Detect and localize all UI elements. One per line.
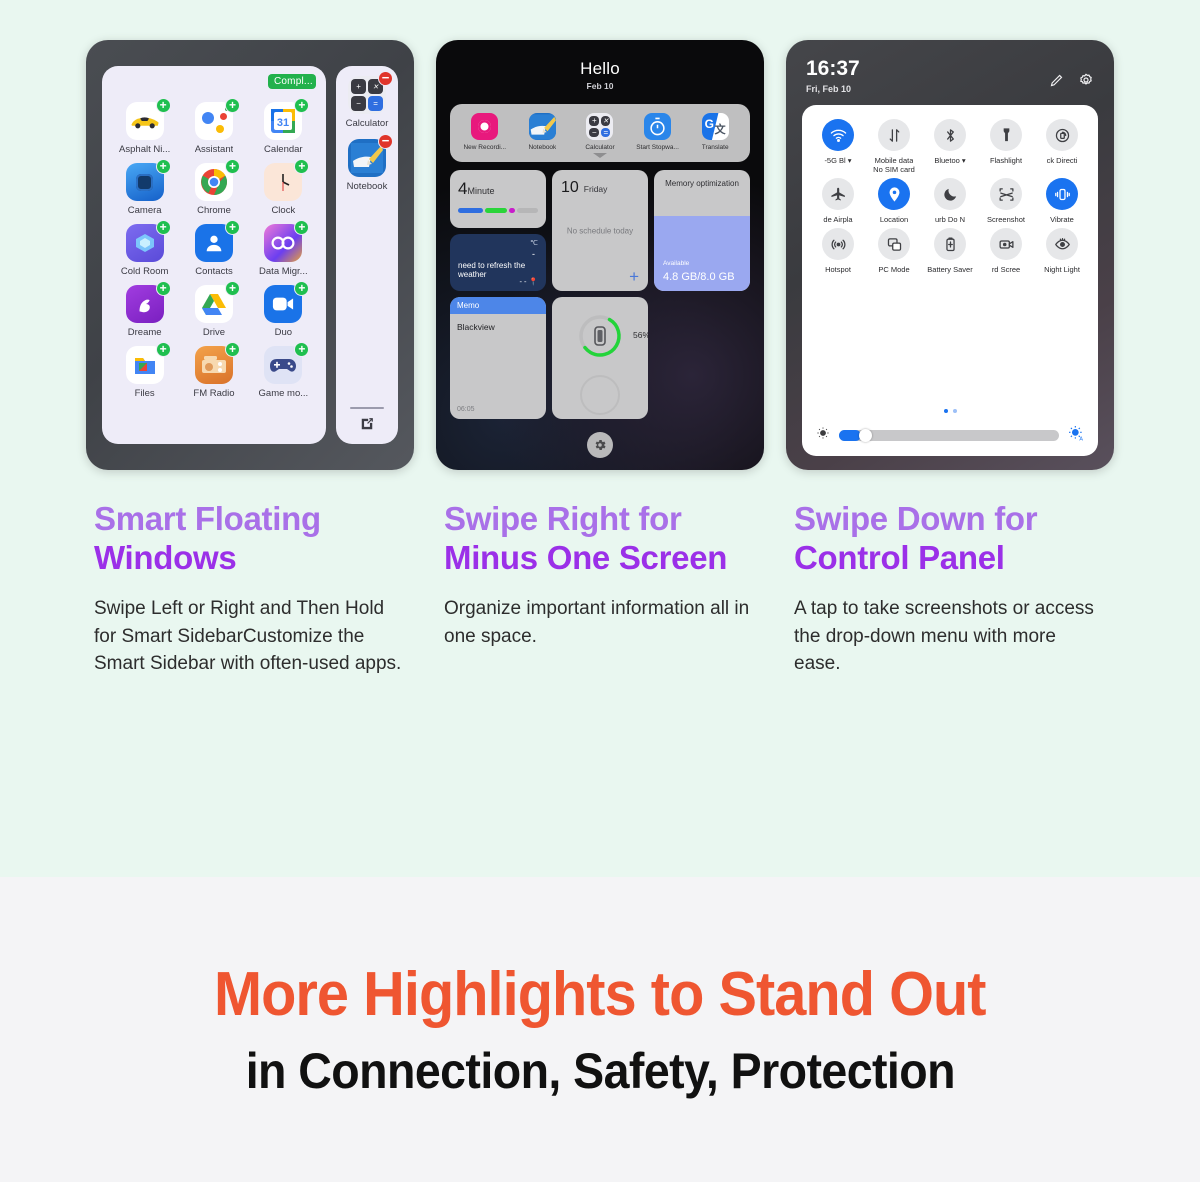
app-label: Clock [271,205,295,216]
quick-toggle[interactable]: PC Mode [866,228,922,274]
add-app-badge[interactable]: + [156,281,171,296]
app-icon-wrap: + [126,346,164,384]
greeting-date: Feb 10 [450,81,750,91]
app-label: Contacts [195,266,233,277]
quick-toggle-label: Mobile data [875,156,914,165]
quick-toggle[interactable]: Mobile dataNo SIM card [866,119,922,174]
widget-battery[interactable]: 56% [552,297,648,419]
weather-temp: - [532,249,535,259]
night-light-icon[interactable] [1046,228,1078,260]
sidebar-app-label: Calculator [346,118,389,129]
add-app-badge[interactable]: + [225,342,240,357]
app-icon-wrap: + [195,346,233,384]
app-item[interactable]: +Assistant [179,102,248,155]
flashlight-icon[interactable] [990,119,1022,151]
smart-sidebar: +✕−=−Calculator−Notebook [336,66,398,444]
calendar-add-icon[interactable]: + [629,268,639,285]
add-app-badge[interactable]: + [294,220,309,235]
caption-title-line1: Swipe Down for [794,500,1106,539]
airplane-icon[interactable] [822,178,854,210]
app-item[interactable]: +Chrome [179,163,248,216]
caption-minus-one-screen: Swipe Right for Minus One Screen Organiz… [436,500,764,678]
memo-body: Blackview [450,314,546,340]
shortcut-label: Start Stopwa... [636,144,679,151]
add-app-badge[interactable]: + [294,98,309,113]
battery-ring: 56% [577,313,623,359]
page-indicator [810,409,1090,413]
add-app-badge[interactable]: + [225,220,240,235]
weather-wind: - - [519,277,526,286]
caption-control-panel: Swipe Down for Control Panel A tap to ta… [786,500,1114,678]
hotspot-icon[interactable] [822,228,854,260]
caption-title-line1: Swipe Right for [444,500,756,539]
memory-available-value: 4.8 GB/8.0 GB [663,271,735,283]
app-item[interactable]: +Game mo... [249,346,318,399]
app-label: Camera [128,205,162,216]
quick-toggle-label: Screenshot [987,215,1025,224]
caption-body: Swipe Left or Right and Then Hold for Sm… [94,595,406,678]
brightness-low-icon [816,426,830,445]
clock-date: Fri, Feb 10 [806,84,860,94]
location-pin-icon: 📍 [529,277,538,286]
status-time-block: 16:37 Fri, Feb 10 [806,58,860,94]
app-label: Dreame [128,327,162,338]
app-icon-wrap: + [195,285,233,323]
shortcut-item[interactable]: +✕−=Calculator [573,113,627,151]
greeting-title: Hello [450,59,750,79]
app-label: FM Radio [193,388,234,399]
shortcut-label: Calculator [585,144,614,151]
battery-secondary-ring [580,375,620,415]
memo-time: 06:05 [457,406,475,413]
quick-toggle[interactable]: ck Directi [1034,119,1090,174]
app-label: Cold Room [121,266,169,277]
shortcut-label: Translate [702,144,729,151]
weather-location-row: - - 📍 [519,277,538,286]
quick-toggle[interactable]: Flashlight [978,119,1034,174]
timer-unit: Minute [467,186,494,196]
caption-smart-floating-windows: Smart Floating Windows Swipe Left or Rig… [86,500,414,678]
gear-icon[interactable] [1078,72,1094,93]
sidebar-app-label: Notebook [347,181,388,192]
feature-captions: Smart Floating Windows Swipe Left or Rig… [0,500,1200,678]
caption-title-line2: Control Panel [794,539,1106,578]
status-header: 16:37 Fri, Feb 10 [802,56,1098,94]
do-not-disturb-icon[interactable] [934,178,966,210]
quick-toggle-label: -5G Bl ▾ [824,156,851,165]
widget-memo[interactable]: Memo Blackview 06:05 [450,297,546,419]
app-label: Assistant [195,144,234,155]
svg-text:A: A [1079,436,1083,441]
device-preview-smart-floating-windows: Compl... +Asphalt Ni...+Assistant31+Cale… [86,40,414,470]
vibrate-icon[interactable] [1046,178,1078,210]
caption-title-line1: Smart Floating [94,500,406,539]
app-item[interactable]: +Cold Room [110,224,179,277]
brightness-knob[interactable] [859,429,872,442]
quick-toggle[interactable]: Battery Saver [922,228,978,274]
app-icon-wrap: + [126,224,164,262]
shortcut-item[interactable]: Notebook [515,113,569,151]
quick-toggle[interactable]: Screenshot [978,178,1034,224]
quick-toggle-sublabel: No SIM card [873,165,915,174]
bluetooth-icon[interactable] [934,119,966,151]
mobile-data-icon[interactable] [878,119,910,151]
quick-toggle-label: Flashlight [990,156,1022,165]
sidebar-footer [336,407,398,436]
app-icon-wrap: 31+ [264,102,302,140]
app-item[interactable]: +Contacts [179,224,248,277]
sidebar-handle[interactable] [350,407,384,409]
caption-body: A tap to take screenshots or access the … [794,595,1106,678]
quick-toggle-label: Hotspot [825,265,851,274]
shortcut-item[interactable]: G文Translate [688,113,742,151]
app-icon-wrap: + [195,224,233,262]
screenshot-icon[interactable] [990,178,1022,210]
remove-app-badge[interactable]: − [378,134,393,149]
app-icon-wrap: + [264,163,302,201]
app-item[interactable]: +FM Radio [179,346,248,399]
weather-unit: ℃ [530,239,538,247]
app-icon-wrap: + [126,285,164,323]
quick-toggle[interactable]: Hotspot [810,228,866,274]
device-previews-row: Compl... +Asphalt Ni...+Assistant31+Cale… [0,40,1200,470]
location-icon[interactable] [878,178,910,210]
brightness-fill [839,430,861,441]
app-label: Asphalt Ni... [119,144,170,155]
quick-toggle-label: ck Directi [1047,156,1078,165]
calculator-icon: +✕−= [586,113,613,140]
app-item[interactable]: +Asphalt Ni... [110,102,179,155]
widget-grid: 4Minute 10Friday No schedule today + Mem… [450,170,750,419]
recorder-icon [471,113,498,140]
highlights-subheadline: in Connection, Safety, Protection [245,1042,954,1100]
app-label: Duo [275,327,292,338]
shortcut-label: Notebook [528,144,556,151]
complete-badge[interactable]: Compl... [268,74,316,89]
app-icon-wrap: + [126,102,164,140]
sidebar-items: +✕−=−Calculator−Notebook [346,76,389,202]
app-item[interactable]: +Files [110,346,179,399]
highlights-headline: More Highlights to Stand Out [214,959,986,1030]
device-preview-control-panel: 16:37 Fri, Feb 10 [786,40,1114,470]
quick-toggle-label: Battery Saver [927,265,972,274]
app-label: Data Migr... [259,266,308,277]
sidebar-app-item[interactable]: −Notebook [346,139,389,192]
add-app-badge[interactable]: + [225,281,240,296]
quick-toggle-label: Bluetoo ▾ [934,156,965,165]
app-picker-sheet: Compl... +Asphalt Ni...+Assistant31+Cale… [102,66,326,444]
add-app-badge[interactable]: + [294,281,309,296]
chevron-down-icon[interactable] [593,153,607,158]
calendar-weekday: Friday [584,184,608,194]
page-dot-active[interactable] [944,409,948,413]
calendar-day: 10 [561,179,579,196]
device-preview-minus-one-screen: Hello Feb 10 New Recordi...Notebook+✕−=C… [436,40,764,470]
app-label: Drive [203,327,225,338]
app-grid: +Asphalt Ni...+Assistant31+Calendar+Came… [110,102,318,399]
sidebar-app-item[interactable]: +✕−=−Calculator [346,76,389,129]
app-label: Game mo... [259,388,309,399]
widget-timer[interactable]: 4Minute [450,170,546,228]
add-app-badge[interactable]: + [294,342,309,357]
pc-mode-icon[interactable] [878,228,910,260]
clock-time: 16:37 [806,58,860,79]
app-item[interactable]: +Duo [249,285,318,338]
highlights-section: More Highlights to Stand Out in Connecti… [0,877,1200,1182]
app-icon-wrap: + [264,346,302,384]
battery-saver-icon[interactable] [934,228,966,260]
shortcut-item[interactable]: Start Stopwa... [631,113,685,151]
quick-toggle[interactable]: -5G Bl ▾ [810,119,866,174]
brightness-slider-row: A [810,425,1090,448]
quick-toggle[interactable]: de Airpla [810,178,866,224]
caption-body: Organize important information all in on… [444,595,756,650]
app-icon-wrap: + [195,102,233,140]
memory-available-label: Available [663,260,689,267]
quick-toggle[interactable]: rd Scree [978,228,1034,274]
quick-toggle-label: Location [880,215,908,224]
app-label: Chrome [197,205,231,216]
app-label: Calendar [264,144,303,155]
timer-progress [458,208,538,213]
shortcut-row: New Recordi...Notebook+✕−=CalculatorStar… [456,113,744,151]
header-actions [1049,72,1094,93]
add-app-badge[interactable]: + [225,159,240,174]
remove-app-badge[interactable]: − [378,71,393,86]
stopwatch-icon [644,113,671,140]
brightness-auto-icon[interactable]: A [1068,425,1084,446]
page-dot[interactable] [953,409,957,413]
features-section: Compl... +Asphalt Ni...+Assistant31+Cale… [0,0,1200,877]
quick-toggle-label: urb Do N [935,215,965,224]
sidebar-edit-icon[interactable] [360,417,374,436]
app-item[interactable]: +Clock [249,163,318,216]
gear-icon[interactable] [587,432,613,458]
app-icon-wrap: + [195,163,233,201]
quick-toggle[interactable]: Night Light [1034,228,1090,274]
notebook-icon [529,113,556,140]
widget-calendar[interactable]: 10Friday No schedule today + [552,170,648,291]
app-item[interactable]: +Drive [179,285,248,338]
quick-toggle-label: Night Light [1044,265,1080,274]
quick-toggle-label: rd Scree [992,265,1020,274]
app-label: Files [135,388,155,399]
memory-title: Memory optimization [654,170,750,188]
memo-title: Memo [450,297,546,314]
battery-percent: 56% [633,330,648,340]
add-app-badge[interactable]: + [225,98,240,113]
quick-toggle[interactable]: urb Do N [922,178,978,224]
shortcut-item[interactable]: New Recordi... [458,113,512,151]
pencil-icon[interactable] [1049,73,1064,93]
widget-weather[interactable]: ℃ - need to refresh the weather - - 📍 [450,234,546,291]
calendar-empty-text: No schedule today [552,226,648,235]
quick-settings-card: -5G Bl ▾Mobile dataNo SIM cardBluetoo ▾F… [802,105,1098,456]
quick-toggle-label: de Airpla [823,215,852,224]
shortcut-label: New Recordi... [463,144,506,151]
quick-toggle[interactable]: Location [866,178,922,224]
app-item[interactable]: +Dreame [110,285,179,338]
app-item[interactable]: 31+Calendar [249,102,318,155]
quick-toggle[interactable]: Vibrate [1034,178,1090,224]
auto-rotate-icon[interactable] [1046,119,1078,151]
add-app-badge[interactable]: + [156,342,171,357]
app-icon-wrap: + [264,285,302,323]
add-app-badge[interactable]: + [294,159,309,174]
app-icon-wrap: + [126,163,164,201]
add-app-badge[interactable]: + [156,98,171,113]
app-item[interactable]: +Camera [110,163,179,216]
app-item[interactable]: +Data Migr... [249,224,318,277]
quick-toggle[interactable]: Bluetoo ▾ [922,119,978,174]
caption-title-line2: Windows [94,539,406,578]
widget-memory[interactable]: Memory optimization Available 4.8 GB/8.0… [654,170,750,291]
quick-toggle-grid: -5G Bl ▾Mobile dataNo SIM cardBluetoo ▾F… [810,119,1090,274]
wifi-icon[interactable] [822,119,854,151]
brightness-track[interactable] [839,430,1059,441]
shortcut-bar: New Recordi...Notebook+✕−=CalculatorStar… [450,104,750,162]
google-translate-icon: G文 [702,113,729,140]
quick-toggle-label: PC Mode [878,265,909,274]
quick-toggle-label: Vibrate [1050,215,1074,224]
app-icon-wrap: + [264,224,302,262]
svg-text:31: 31 [277,117,289,129]
add-app-badge[interactable]: + [156,220,171,235]
screen-record-icon[interactable] [990,228,1022,260]
caption-title-line2: Minus One Screen [444,539,756,578]
add-app-badge[interactable]: + [156,159,171,174]
